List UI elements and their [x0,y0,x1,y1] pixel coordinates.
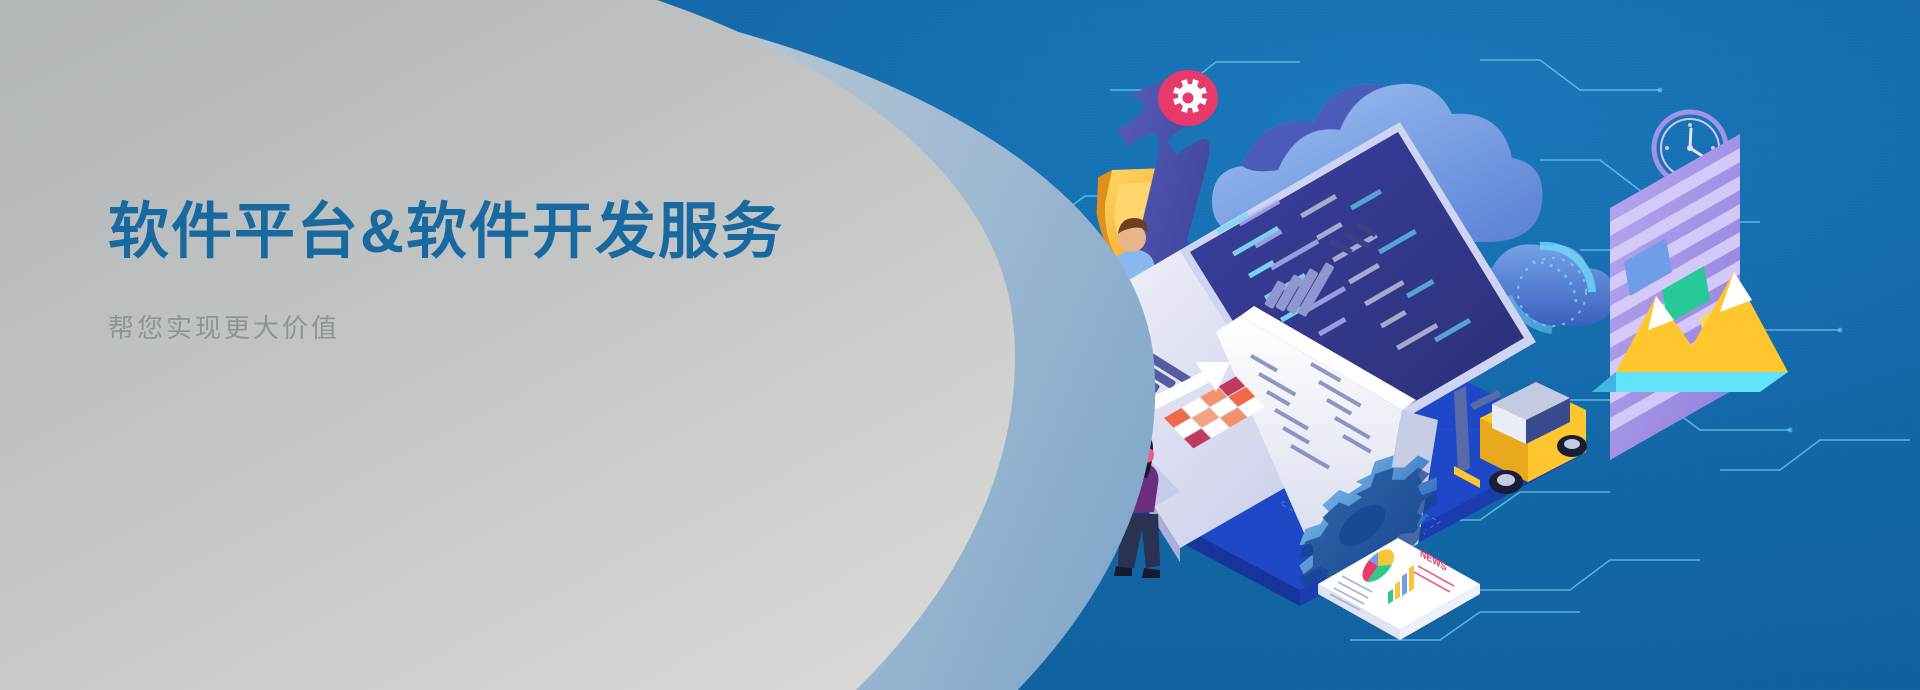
page-title: 软件平台&软件开发服务 [108,196,868,268]
page-subtitle: 帮您实现更大价值 [108,308,868,345]
hero-banner: NEWS [0,0,1920,690]
hero-text-block: 软件平台&软件开发服务 帮您实现更大价值 [108,196,868,345]
gear-badge-icon [1158,70,1218,126]
